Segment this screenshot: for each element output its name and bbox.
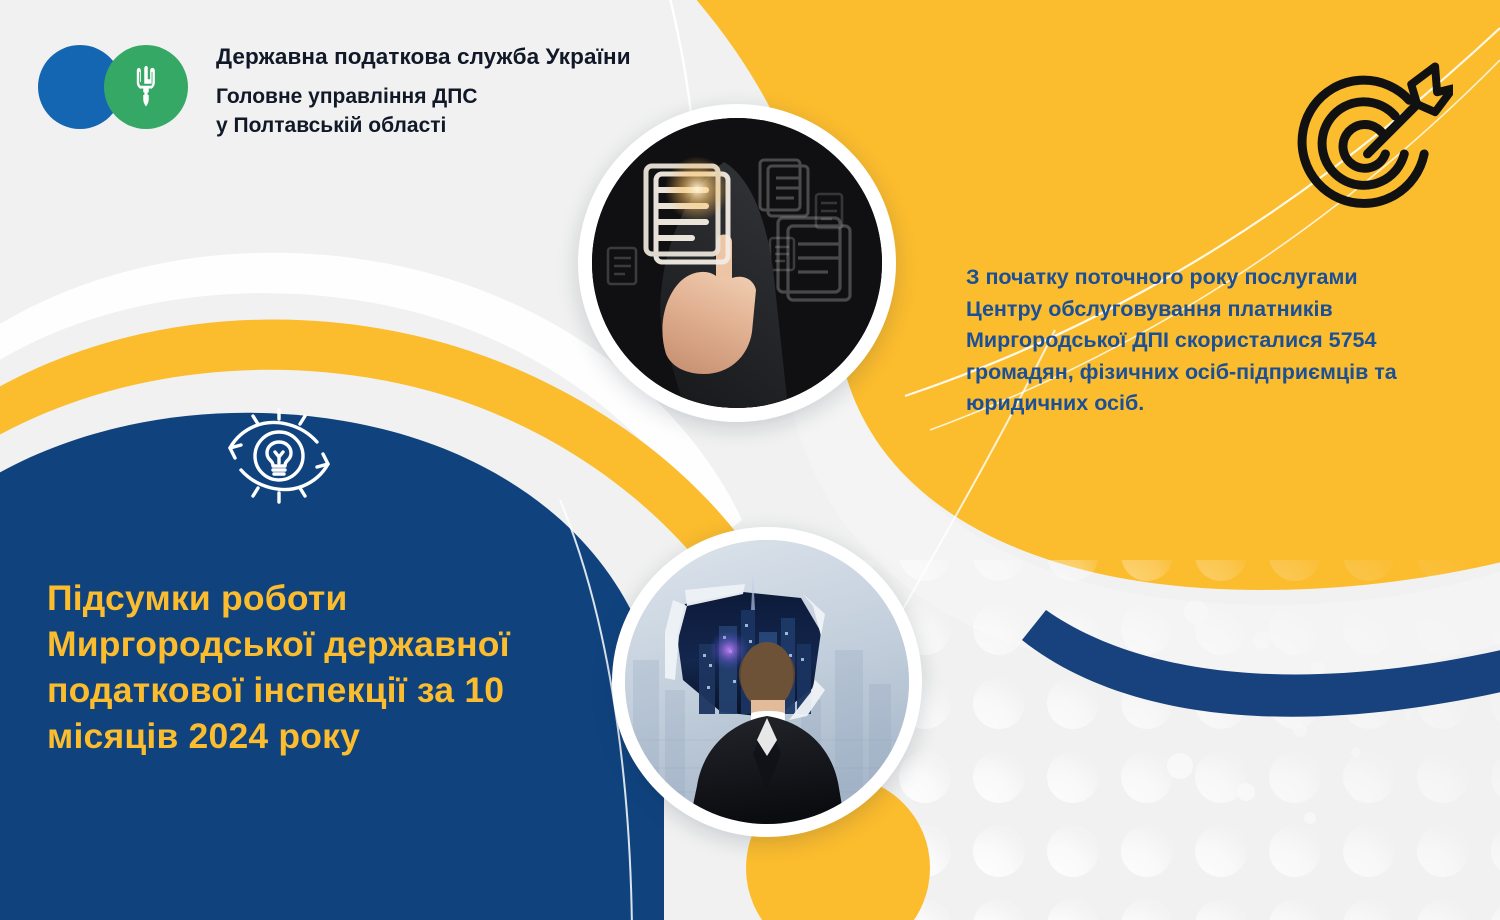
org-title-region: у Полтавській області [216, 112, 631, 141]
target-with-dart-icon [1278, 62, 1453, 222]
dps-green-circle [104, 45, 188, 129]
organisation-name-block: Державна податкова служба України Головн… [216, 43, 631, 141]
halftone-dot-pattern [830, 560, 1500, 920]
eye-lightbulb-idea-icon [213, 400, 345, 512]
org-title-dept: Головне управління ДПС [216, 83, 631, 112]
summary-paragraph: З початку поточного року послугами Центр… [966, 262, 1406, 420]
dps-logo [38, 42, 198, 142]
photo-hand-touching-documents [578, 104, 896, 422]
organisation-header: Державна податкова служба України Головн… [38, 42, 631, 142]
photo-man-viewing-city [612, 527, 922, 837]
photo-hand-touching-documents-image [592, 118, 882, 408]
page-title: Підсумки роботи Миргородської державної … [47, 575, 592, 760]
ukraine-trident-icon [127, 64, 165, 110]
infographic-canvas: Державна податкова служба України Головн… [0, 0, 1500, 920]
org-title-main: Державна податкова служба України [216, 43, 631, 70]
photo-man-viewing-city-image [625, 540, 909, 824]
